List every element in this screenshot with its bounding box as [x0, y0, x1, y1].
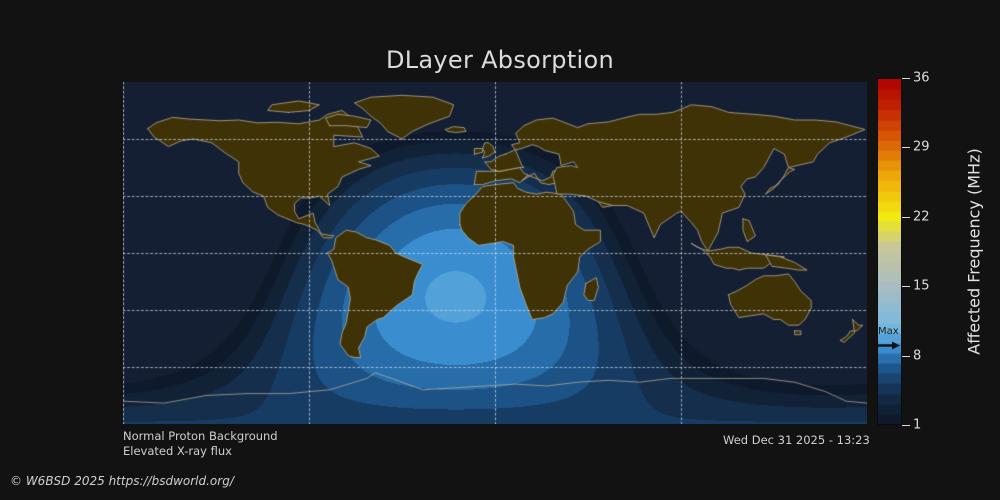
colorbar-axis-label: Affected Frequency (MHz)	[963, 78, 985, 425]
colorbar-tick	[902, 425, 910, 426]
colorbar-tick-label: 29	[913, 140, 930, 155]
colorbar-tick-label: 8	[913, 348, 921, 363]
world-map-panel	[123, 82, 867, 424]
colorbar-tick	[902, 78, 910, 79]
xray-flux-status: Elevated X-ray flux	[123, 444, 278, 459]
colorbar-tick	[902, 217, 910, 218]
colorbar-tick	[902, 356, 910, 357]
colorbar-tick-label: 36	[913, 71, 930, 86]
absorption-map-canvas	[123, 82, 867, 424]
credit-line: © W6BSD 2025 https://bsdworld.org/	[10, 474, 234, 488]
colorbar-tick-label: 1	[913, 418, 921, 433]
colorbar-tick-label: 22	[913, 209, 930, 224]
colorbar-gradient	[877, 78, 902, 425]
proton-background-status: Normal Proton Background	[123, 429, 278, 444]
dlayer-absorption-figure: DLayer Absorption 1815222936 Max Affecte…	[0, 0, 1000, 500]
page-title: DLayer Absorption	[0, 46, 1000, 74]
colorbar: 1815222936 Max Affected Frequency (MHz)	[877, 78, 997, 425]
colorbar-tick-label: 15	[913, 279, 930, 294]
colorbar-tick	[902, 147, 910, 148]
status-annotations: Normal Proton Background Elevated X-ray …	[123, 429, 278, 459]
timestamp: Wed Dec 31 2025 - 13:23	[723, 433, 870, 447]
colorbar-tick	[902, 286, 910, 287]
colorbar-canvas	[878, 79, 901, 424]
